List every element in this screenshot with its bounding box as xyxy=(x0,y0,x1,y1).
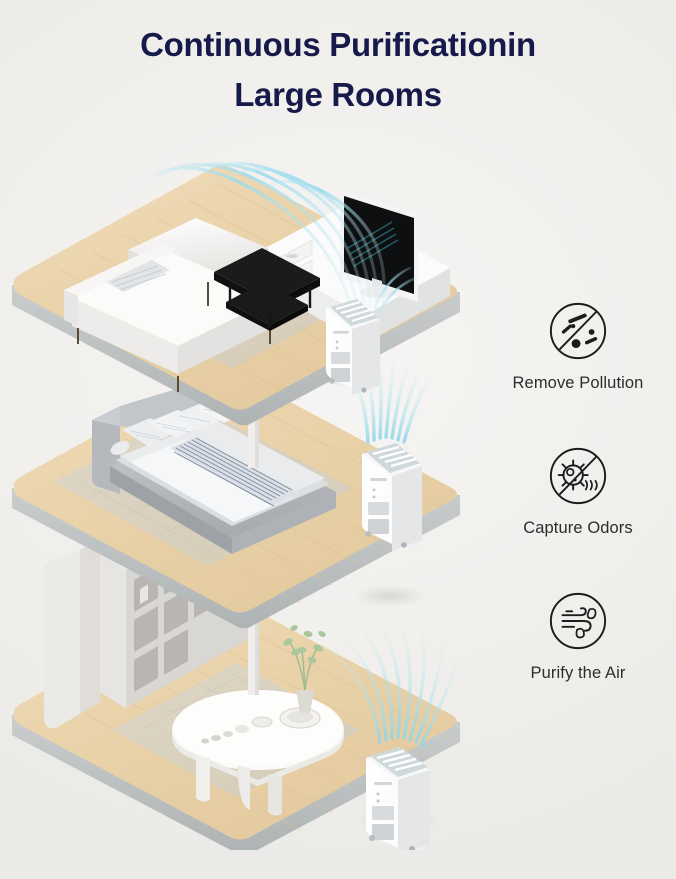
purifier-grille-upper xyxy=(368,502,389,515)
purifier-display xyxy=(370,478,387,481)
air-purifier xyxy=(354,443,426,607)
purifier-grille-upper xyxy=(331,352,350,364)
page-title: Continuous Purificationin Large Rooms xyxy=(0,20,676,120)
leaf-icon xyxy=(588,609,596,618)
title-line-2: Large Rooms xyxy=(0,70,676,120)
room-stack-illustration xyxy=(0,130,520,850)
feature-list: Remove Pollution xyxy=(488,300,668,735)
purifier-grille-lower xyxy=(372,824,394,840)
leaf-icon xyxy=(576,629,583,638)
feature-label: Purify the Air xyxy=(488,664,668,683)
purifier-display xyxy=(333,331,349,334)
wind-leaves-icon xyxy=(547,590,609,652)
feature-remove-pollution: Remove Pollution xyxy=(488,300,668,393)
dust-particles-slashed-icon xyxy=(547,300,609,362)
feature-label: Capture Odors xyxy=(488,519,668,538)
title-line-1: Continuous Purificationin xyxy=(0,20,676,70)
feature-capture-odors: Capture Odors xyxy=(488,445,668,538)
purifier-grille-lower xyxy=(368,519,389,534)
isometric-room-stack xyxy=(0,130,520,850)
purifier-display xyxy=(374,782,392,785)
feature-purify-the-air: Purify the Air xyxy=(488,590,668,683)
feature-label: Remove Pollution xyxy=(488,374,668,393)
odor-waves xyxy=(586,481,597,490)
purifier-grille-upper xyxy=(372,806,394,820)
germ-odor-slashed-icon xyxy=(547,445,609,507)
air-purifier xyxy=(358,747,438,850)
infographic-canvas: Continuous Purificationin Large Rooms xyxy=(0,0,676,879)
